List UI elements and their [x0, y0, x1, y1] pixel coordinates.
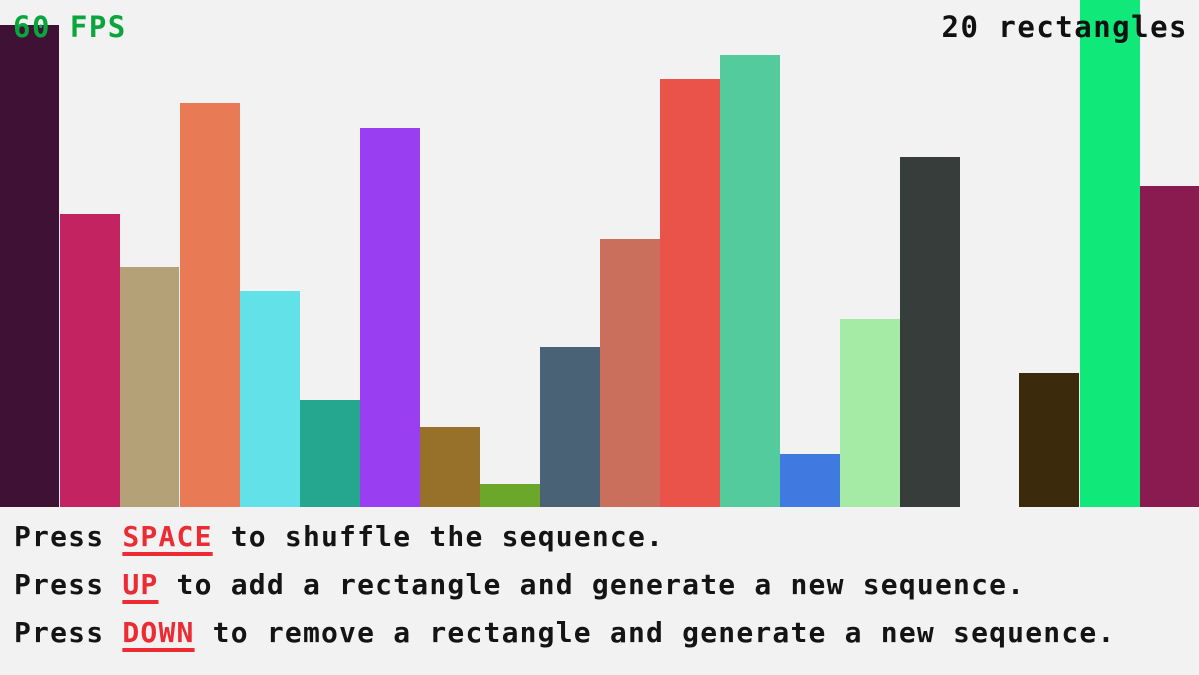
bar-5: [240, 291, 300, 507]
key-down[interactable]: DOWN: [122, 616, 194, 649]
instruction-line-3: Press DOWN to remove a rectangle and gen…: [14, 619, 1199, 647]
bar-19: [1080, 0, 1140, 507]
instruction-line-1: Press SPACE to shuffle the sequence.: [14, 523, 1199, 551]
bar-6: [300, 400, 360, 507]
bar-18: [1019, 373, 1079, 507]
bar-4: [180, 103, 240, 507]
bar-8: [420, 427, 480, 507]
instruction-prefix: Press: [14, 616, 122, 649]
bar-10: [540, 347, 600, 507]
bar-2: [60, 214, 120, 507]
bar-14: [780, 454, 840, 507]
instruction-prefix: Press: [14, 520, 122, 553]
key-up[interactable]: UP: [122, 568, 158, 601]
bar-7: [360, 128, 420, 507]
bar-3: [120, 267, 179, 507]
bar-15: [840, 319, 900, 507]
bar-12: [660, 79, 720, 507]
game-canvas: 60 FPS 20 rectangles Press SPACE to shuf…: [0, 0, 1199, 675]
bar-11: [600, 239, 660, 507]
instruction-suffix: to add a rectangle and generate a new se…: [158, 568, 1025, 601]
instruction-suffix: to remove a rectangle and generate a new…: [195, 616, 1116, 649]
bar-1: [0, 25, 59, 507]
fps-counter: 60 FPS: [13, 13, 127, 42]
bar-20: [1140, 186, 1199, 507]
bar-16: [900, 157, 960, 507]
instruction-prefix: Press: [14, 568, 122, 601]
instruction-line-2: Press UP to add a rectangle and generate…: [14, 571, 1199, 599]
rectangle-count-label: 20 rectangles: [942, 13, 1188, 42]
instructions-panel: Press SPACE to shuffle the sequence.Pres…: [0, 507, 1199, 675]
bar-13: [720, 55, 780, 507]
key-space[interactable]: SPACE: [122, 520, 212, 553]
instruction-suffix: to shuffle the sequence.: [213, 520, 664, 553]
rectangle-sequence-chart[interactable]: [0, 0, 1199, 507]
bar-9: [480, 484, 540, 507]
